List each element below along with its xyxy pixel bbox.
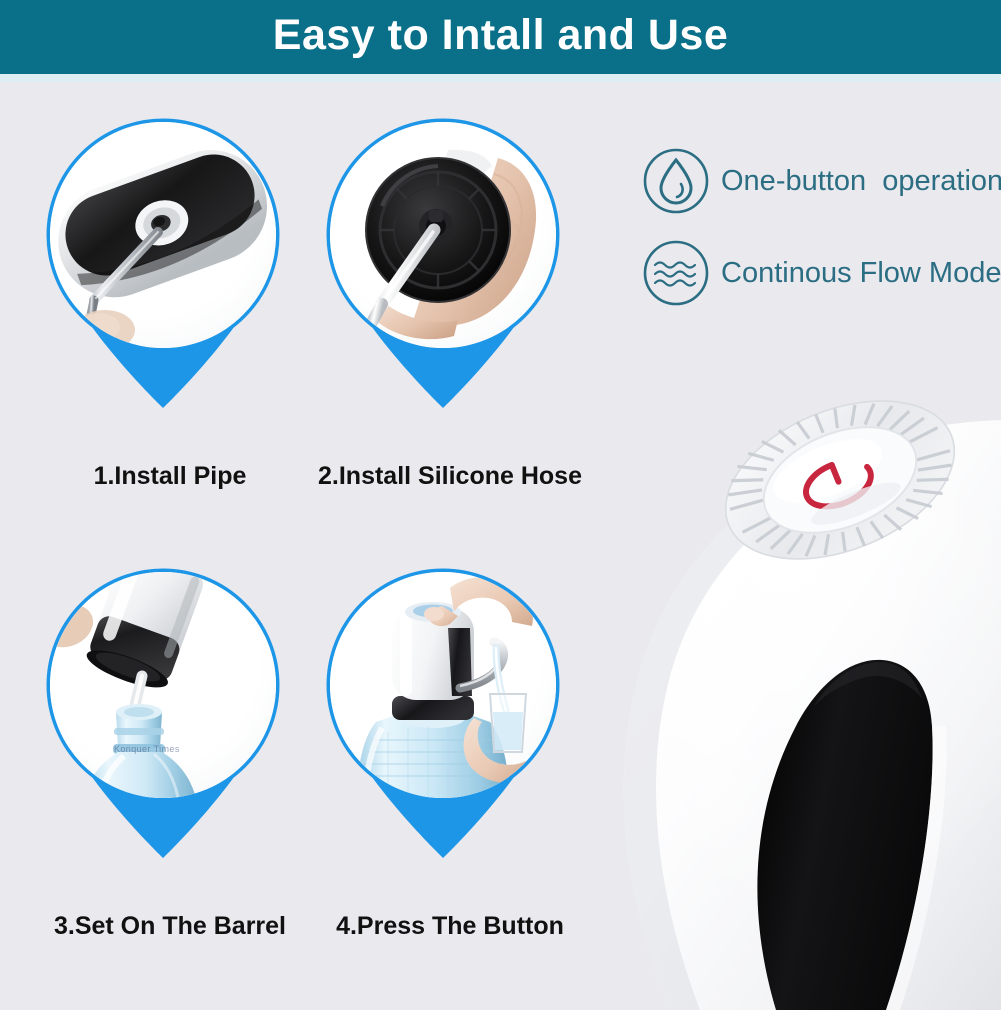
step-item: 4.Press The Button	[300, 560, 600, 980]
step-item: 2.Install Silicone Hose	[300, 110, 600, 530]
pump-pipe-illustration	[50, 122, 276, 348]
header-underline	[0, 74, 1001, 82]
waves-icon	[640, 237, 712, 309]
water-drop-icon	[640, 145, 712, 217]
step-item: Konquer Times 3.Set On The Barrel	[20, 560, 320, 980]
pump-onto-barrel-illustration	[50, 572, 276, 798]
step-caption: 1.Install Pipe	[20, 462, 320, 491]
image-watermark: Konquer Times	[114, 744, 180, 754]
water-dispenser-pump-closeup	[600, 370, 1001, 1010]
installation-steps: 1.Install Pipe	[0, 90, 630, 990]
pin-marker-2	[318, 110, 568, 410]
feature-label: Continous Flow Mode	[721, 259, 1001, 288]
pin-marker-3: Konquer Times	[38, 560, 288, 860]
step-caption: 4.Press The Button	[300, 912, 600, 941]
pump-base-hose-illustration	[330, 122, 556, 348]
photo-install-silicone-hose	[330, 122, 556, 348]
feature-label: One-button operation	[721, 167, 1001, 196]
feature-item-one-button: One-button operation	[640, 135, 1001, 227]
feature-list: One-button operation Continous Flow Mode	[640, 135, 1001, 319]
photo-set-on-barrel: Konquer Times	[50, 572, 276, 798]
step-caption: 2.Install Silicone Hose	[300, 462, 600, 491]
page-title: Easy to Intall and Use	[273, 14, 728, 60]
photo-press-the-button	[330, 572, 556, 798]
product-hero-image	[600, 370, 1001, 1010]
pin-marker-1	[38, 110, 288, 410]
dispenser-in-use-illustration	[330, 572, 556, 798]
feature-item-continuous-flow: Continous Flow Mode	[640, 227, 1001, 319]
step-caption: 3.Set On The Barrel	[20, 912, 320, 941]
header-banner: Easy to Intall and Use	[0, 0, 1001, 74]
pin-marker-4	[318, 560, 568, 860]
photo-install-pipe	[50, 122, 276, 348]
step-item: 1.Install Pipe	[20, 110, 320, 530]
